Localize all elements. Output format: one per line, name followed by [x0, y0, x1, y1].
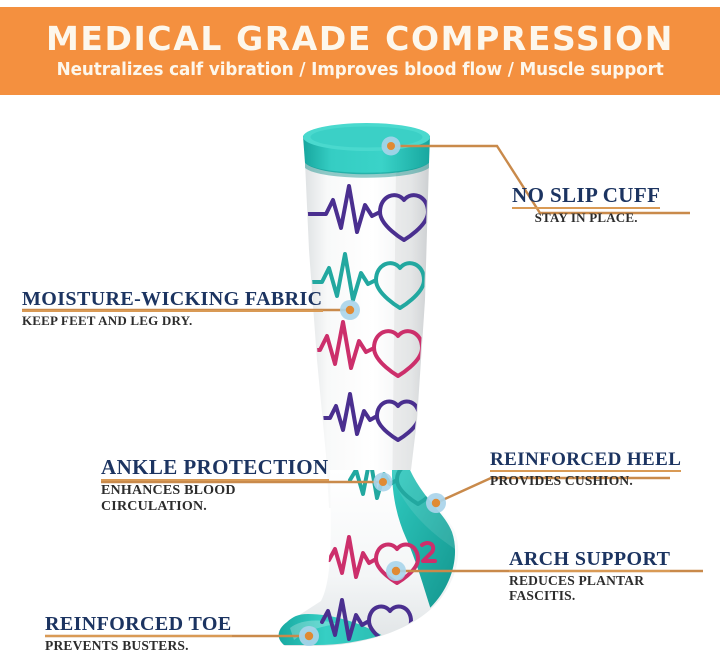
- marker-ankle-protection: [374, 473, 393, 492]
- pattern-ekg-pink-foot: [329, 537, 435, 583]
- product-infographic: MEDICAL GRADE COMPRESSION Neutralizes ca…: [0, 0, 720, 665]
- callout-underline: [512, 207, 660, 209]
- sock-toe-patch: [279, 614, 383, 646]
- sock-cuff: [303, 123, 430, 178]
- banner-subtitle: Neutralizes calf vibration / Improves bl…: [56, 62, 663, 80]
- callout-underline: [45, 635, 232, 637]
- callout-title: ARCH SUPPORT: [509, 549, 670, 569]
- callout-underline: [101, 479, 329, 481]
- pattern-ekg-purple-lower: [316, 394, 419, 440]
- callout-subtitle: STAY IN PLACE.: [512, 211, 660, 225]
- marker-arch-support: [386, 561, 406, 581]
- marker-reinforced-heel: [426, 493, 446, 513]
- callout-no-slip-cuff: NO SLIP CUFF STAY IN PLACE.: [512, 185, 660, 226]
- callout-markers: [299, 137, 446, 647]
- callout-title: REINFORCED HEEL: [490, 450, 681, 469]
- callout-subtitle: PREVENTS BUSTERS.: [45, 639, 232, 654]
- pattern-ekg-pink-lower: [302, 322, 446, 376]
- banner-title: MEDICAL GRADE COMPRESSION: [46, 22, 674, 55]
- marker-moisture-wicking: [340, 300, 360, 320]
- callout-reinforced-heel: REINFORCED HEEL PROVIDES CUSHION.: [490, 450, 681, 489]
- callout-title: REINFORCED TOE: [45, 614, 232, 634]
- callout-underline: [22, 310, 323, 312]
- callout-subtitle: ENHANCES BLOOD CIRCULATION.: [101, 483, 329, 514]
- marker-reinforced-toe: [299, 626, 319, 646]
- callout-title: ANKLE PROTECTION: [101, 457, 329, 478]
- callout-underline: [509, 570, 670, 572]
- callout-title: NO SLIP CUFF: [512, 185, 660, 206]
- callout-reinforced-toe: REINFORCED TOE PREVENTS BUSTERS.: [45, 614, 232, 654]
- header-banner: MEDICAL GRADE COMPRESSION Neutralizes ca…: [0, 7, 720, 95]
- callout-moisture-wicking-fabric: MOISTURE-WICKING FABRIC KEEP FEET AND LE…: [22, 289, 323, 329]
- callout-arch-support: ARCH SUPPORT REDUCES PLANTAR FASCITIS.: [509, 549, 670, 604]
- callout-subtitle: REDUCES PLANTAR FASCITIS.: [509, 574, 670, 604]
- pattern-ekg-purple-toe: [322, 600, 411, 645]
- sock-heel-patch: [392, 470, 460, 610]
- pattern-ekg-purple-upper: [308, 186, 452, 240]
- pattern-ekg-teal-ankle: [350, 458, 456, 504]
- marker-no-slip-cuff: [382, 137, 401, 156]
- callout-subtitle: KEEP FEET AND LEG DRY.: [22, 314, 323, 328]
- callout-ankle-protection: ANKLE PROTECTION ENHANCES BLOOD CIRCULAT…: [101, 457, 329, 514]
- pattern-ekg-teal-middle: [304, 254, 448, 308]
- callout-title: MOISTURE-WICKING FABRIC: [22, 289, 323, 309]
- callout-underline: [490, 470, 681, 472]
- callout-subtitle: PROVIDES CUSHION.: [490, 474, 681, 489]
